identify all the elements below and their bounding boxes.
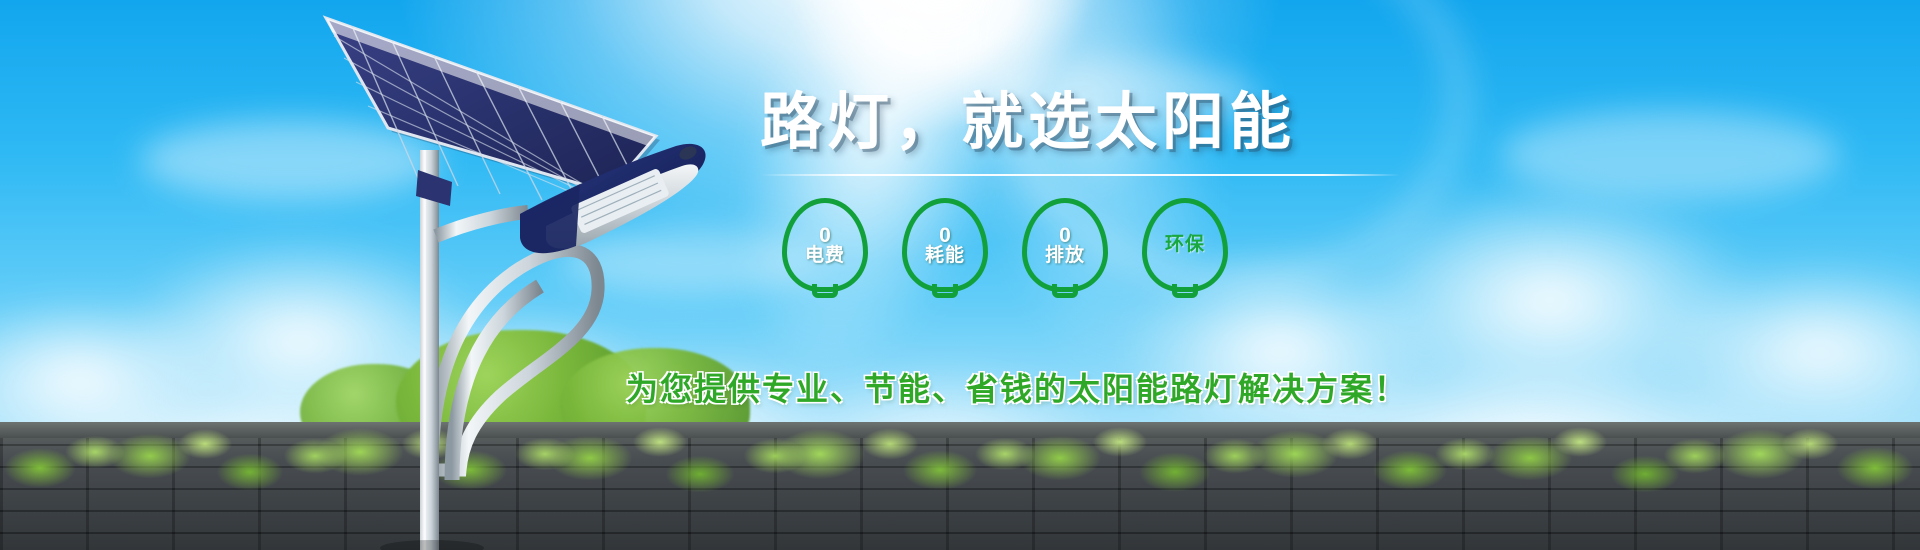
feature-badge-list: 0 电费 0 耗能 0 排放 环保 (782, 198, 1440, 292)
badge-value: 0 (1059, 225, 1071, 246)
badge-value: 0 (819, 225, 831, 246)
hero-subtitle: 为您提供专业、节能、省钱的太阳能路灯解决方案！ (626, 364, 1408, 410)
feature-badge-emissions: 0 排放 (1022, 198, 1108, 292)
badge-label: 电费 (805, 246, 845, 266)
page-title: 路灯，就选太阳能 (760, 92, 1440, 154)
badge-label: 耗能 (925, 246, 965, 266)
badge-label: 排放 (1045, 246, 1085, 266)
feature-badge-eco-friendly: 环保 (1142, 198, 1228, 292)
solar-street-lamp-hero-banner: 路灯，就选太阳能 0 电费 0 耗能 0 排放 环保 (0, 0, 1920, 550)
badge-label: 环保 (1165, 235, 1205, 255)
feature-badge-energy-use: 0 耗能 (902, 198, 988, 292)
feature-badge-electricity-cost: 0 电费 (782, 198, 868, 292)
badge-value: 0 (939, 225, 951, 246)
title-divider (760, 174, 1400, 176)
hero-copy-block: 路灯，就选太阳能 0 电费 0 耗能 0 排放 环保 (760, 92, 1440, 292)
